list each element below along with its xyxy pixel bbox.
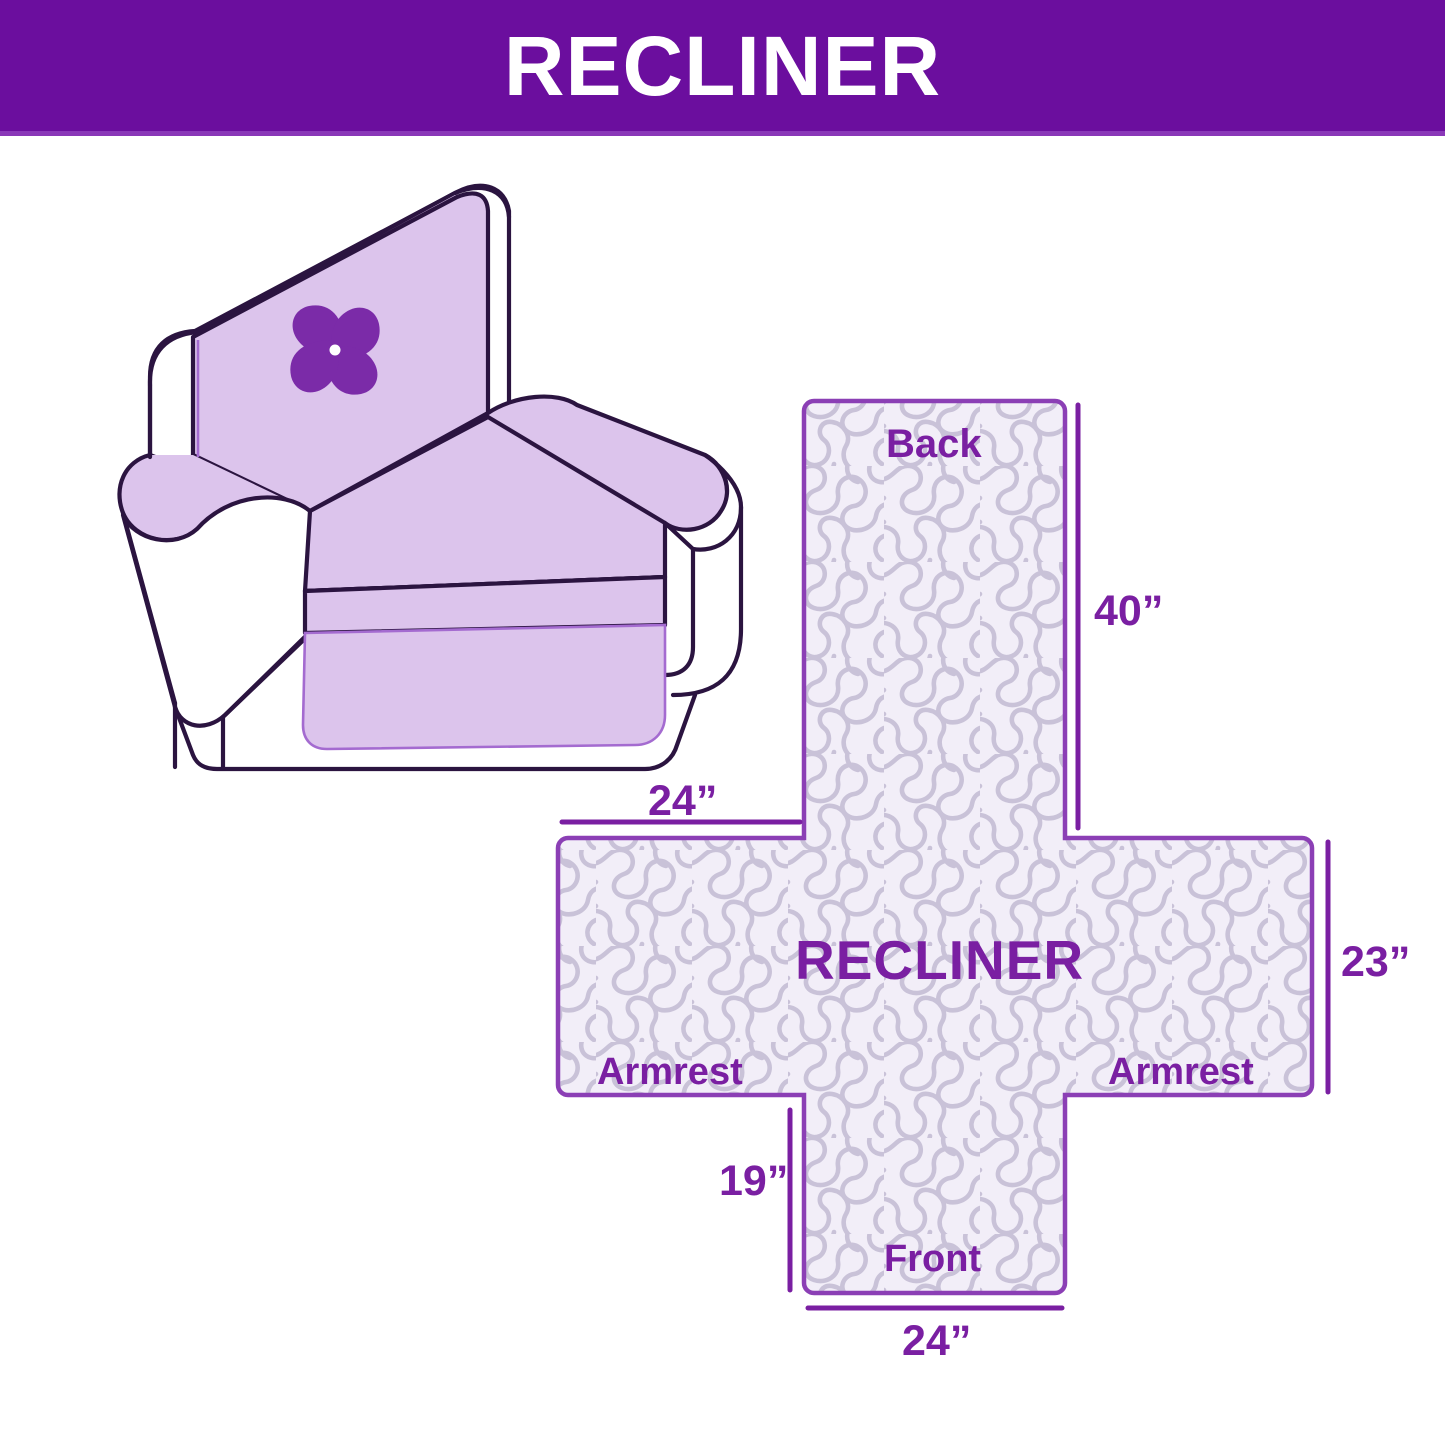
dimension-label-front-height: 19” <box>719 1160 788 1203</box>
header-banner-edge <box>0 131 1445 136</box>
panel-label-armrest-left: Armrest <box>597 1053 743 1091</box>
panel-label-back: Back <box>886 424 982 464</box>
cover-cross-outline <box>558 401 1312 1293</box>
panel-label-front: Front <box>884 1240 981 1278</box>
dimension-label-armrest-width: 24” <box>648 780 717 823</box>
pinwheel-fan-icon <box>290 305 379 394</box>
panel-label-center: RECLINER <box>795 933 1084 988</box>
panel-label-armrest-right: Armrest <box>1108 1053 1254 1091</box>
dimension-label-center-height: 23” <box>1341 941 1410 984</box>
diagram-canvas: RECLINER .ol{fill:none;stroke:#2B1440;st… <box>0 0 1445 1445</box>
page-title: RECLINER <box>0 0 1445 131</box>
dimension-label-front-width: 24” <box>902 1320 971 1363</box>
dimension-label-back-height: 40” <box>1094 590 1163 633</box>
